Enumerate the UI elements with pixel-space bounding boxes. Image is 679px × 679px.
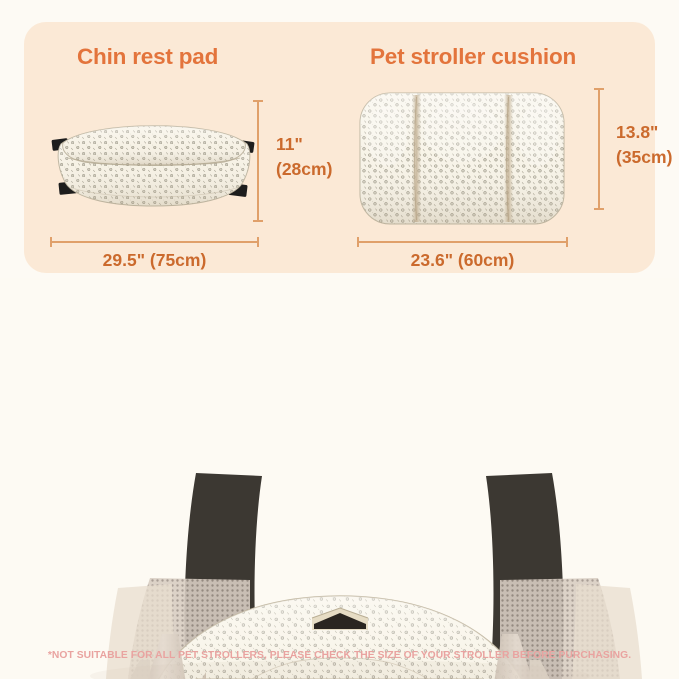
cushion-height-label: 13.8" (35cm)	[616, 120, 672, 171]
specifications-panel: Chin rest pad	[24, 22, 655, 273]
cushion-height-dimension-line	[598, 88, 600, 210]
cushion-height-cm: (35cm)	[616, 145, 672, 170]
product-title-chin-rest-pad: Chin rest pad	[77, 44, 218, 70]
pet-stroller-with-cushion-photo	[0, 278, 679, 679]
chin-pad-height-cm: (28cm)	[276, 157, 332, 182]
chin-rest-pad-illustration	[48, 96, 260, 228]
disclaimer-text: *NOT SUITABLE FOR ALL PET STROLLERS, PLE…	[0, 650, 679, 661]
product-title-pet-stroller-cushion: Pet stroller cushion	[370, 44, 576, 70]
infographic-page: Chin rest pad	[0, 0, 679, 679]
cushion-width-label: 23.6" (60cm)	[357, 250, 568, 271]
chin-pad-height-dimension-line	[257, 100, 259, 222]
chin-pad-height-inches: 11"	[276, 132, 332, 157]
cushion-height-inches: 13.8"	[616, 120, 672, 145]
chin-pad-height-label: 11" (28cm)	[276, 132, 332, 183]
pet-stroller-cushion-illustration	[356, 86, 568, 232]
product-card-pet-stroller-cushion: Pet stroller cushion	[342, 22, 655, 273]
product-card-chin-rest-pad: Chin rest pad	[24, 22, 342, 273]
cushion-width-dimension-line	[357, 241, 568, 243]
chin-pad-width-label: 29.5" (75cm)	[50, 250, 259, 271]
chin-pad-width-dimension-line	[50, 241, 259, 243]
